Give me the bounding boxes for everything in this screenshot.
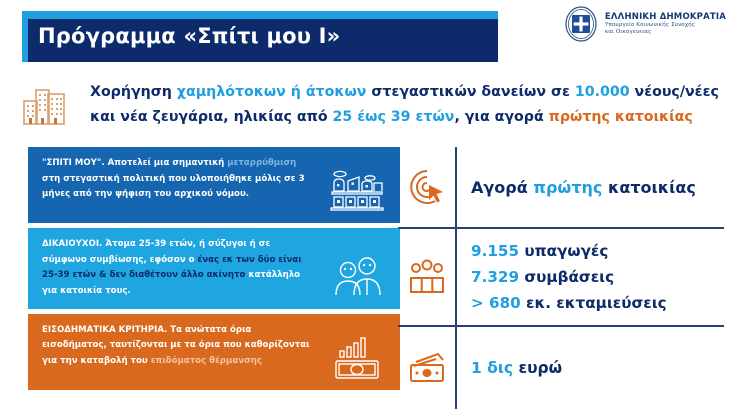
row-3-icon-cell xyxy=(398,348,455,388)
intro-l1-p2: χαμηλότοκων ή άτοκων xyxy=(177,84,367,100)
couple-people-icon xyxy=(326,251,388,301)
village-houses-icon xyxy=(326,165,388,215)
stats-row-3-text: 1 δις ευρώ xyxy=(455,359,562,377)
stat-line-symvaseis: 7.329 συμβάσεις xyxy=(471,264,667,290)
stat-3-label: εκ. εκταμιεύσεις xyxy=(521,294,667,312)
slide: Πρόγραμμα «Σπίτι μου I» ΕΛΛΗΝΙΚΗ ΔΗΜΟΚΡΑ… xyxy=(0,0,734,419)
info-box-eisodimatika: ΕΙΣΟΔΗΜΑΤΙΚΑ ΚΡΙΤΗΡΙΑ. Τα ανώτατα όρια ε… xyxy=(28,314,400,390)
stats-row-numbers: 9.155 υπαγωγές 7.329 συμβάσεις > 680 εκ.… xyxy=(398,229,724,325)
page-title: Πρόγραμμα «Σπίτι μου I» xyxy=(38,24,340,48)
row-2-icon-cell xyxy=(398,257,455,297)
intro-l2-p2: 25 έως 39 ετών xyxy=(333,109,455,125)
stat-2-value: 7.329 xyxy=(471,268,519,286)
logo-text-block: ΕΛΛΗΝΙΚΗ ΔΗΜΟΚΡΑΤΙΑ Υπουργείο Κοινωνικής… xyxy=(605,12,726,37)
intro-line-2: και νέα ζευγάρια, ηλικίας από 25 έως 39 … xyxy=(90,105,719,130)
target-click-icon xyxy=(407,167,447,207)
intro-text: Χορήγηση χαμηλότοκων ή άτοκων στεγαστικώ… xyxy=(90,80,719,130)
stat-1-value: 9.155 xyxy=(471,242,519,260)
stat-line-ypagoges: 9.155 υπαγωγές xyxy=(471,238,667,264)
stats-row-purchase: Αγορά πρώτης κατοικίας xyxy=(398,147,724,227)
title-top-strip xyxy=(28,11,498,19)
box1-text-p1: "ΣΠΙΤΙ ΜΟΥ". Αποτελεί μια σημαντική xyxy=(42,158,227,168)
greek-coat-of-arms-icon xyxy=(564,6,598,42)
box1-text-p2: μεταρρύθμιση xyxy=(227,158,296,168)
intro-band: Χορήγηση χαμηλότοκων ή άτοκων στεγαστικώ… xyxy=(20,80,720,130)
info-box-spiti-mou: "ΣΠΙΤΙ ΜΟΥ". Αποτελεί μια σημαντική μετα… xyxy=(28,147,400,223)
intro-l2-p1: και νέα ζευγάρια, ηλικίας από xyxy=(90,109,333,125)
box3-text-p2: επιδόματος θέρμανσης xyxy=(151,356,262,366)
r1-p2: πρώτης xyxy=(533,178,602,197)
r1-p3: κατοικίας xyxy=(602,178,695,197)
r3-label: ευρώ xyxy=(513,359,562,377)
intro-l1-p4: 10.000 xyxy=(575,84,630,100)
stat-line-ektamieyseis: > 680 εκ. εκταμιεύσεις xyxy=(471,290,667,316)
stats-row-1-text: Αγορά πρώτης κατοικίας xyxy=(455,178,696,197)
stats-row-2-text: 9.155 υπαγωγές 7.329 συμβάσεις > 680 εκ.… xyxy=(455,238,667,316)
banknotes-icon xyxy=(407,348,447,388)
info-box-dikaiouxoi: ΔΙΚΑΙΟΥΧΟΙ. Άτομα 25-39 ετών, ή σύζυγοι … xyxy=(28,228,400,309)
stats-row-budget: 1 δις ευρώ xyxy=(398,327,724,409)
intro-l2-p4: πρώτης κατοικίας xyxy=(549,109,693,125)
stat-1-label: υπαγωγές xyxy=(519,242,608,260)
buildings-icon xyxy=(20,80,76,130)
r1-p1: Αγορά xyxy=(471,178,533,197)
group-people-icon xyxy=(407,257,447,297)
intro-line-1: Χορήγηση χαμηλότοκων ή άτοκων στεγαστικώ… xyxy=(90,80,719,105)
slide-header: Πρόγραμμα «Σπίτι μου I» ΕΛΛΗΝΙΚΗ ΔΗΜΟΚΡΑ… xyxy=(0,0,734,78)
intro-l2-p3: , για αγορά xyxy=(454,109,548,125)
logo-subtitle-line2: και Οικογένειας xyxy=(605,29,726,36)
money-chart-icon xyxy=(326,332,388,382)
row-1-icon-cell xyxy=(398,167,455,207)
stats-grid: Αγορά πρώτης κατοικίας xyxy=(398,147,724,409)
r3-value: 1 δις xyxy=(471,359,513,377)
stat-3-value: > 680 xyxy=(471,294,521,312)
intro-l1-p1: Χορήγηση xyxy=(90,84,177,100)
intro-l1-p3: στεγαστικών δανείων σε xyxy=(366,84,574,100)
info-box-list: "ΣΠΙΤΙ ΜΟΥ". Αποτελεί μια σημαντική μετα… xyxy=(28,147,400,395)
box1-text-p3: στη στεγαστική πολιτική που υλοποιήθηκε … xyxy=(42,174,305,200)
government-logo: ΕΛΛΗΝΙΚΗ ΔΗΜΟΚΡΑΤΙΑ Υπουργείο Κοινωνικής… xyxy=(564,6,726,42)
intro-l1-p5: νέους/νέες xyxy=(630,84,719,100)
logo-title: ΕΛΛΗΝΙΚΗ ΔΗΜΟΚΡΑΤΙΑ xyxy=(605,12,726,23)
stat-2-label: συμβάσεις xyxy=(519,268,614,286)
